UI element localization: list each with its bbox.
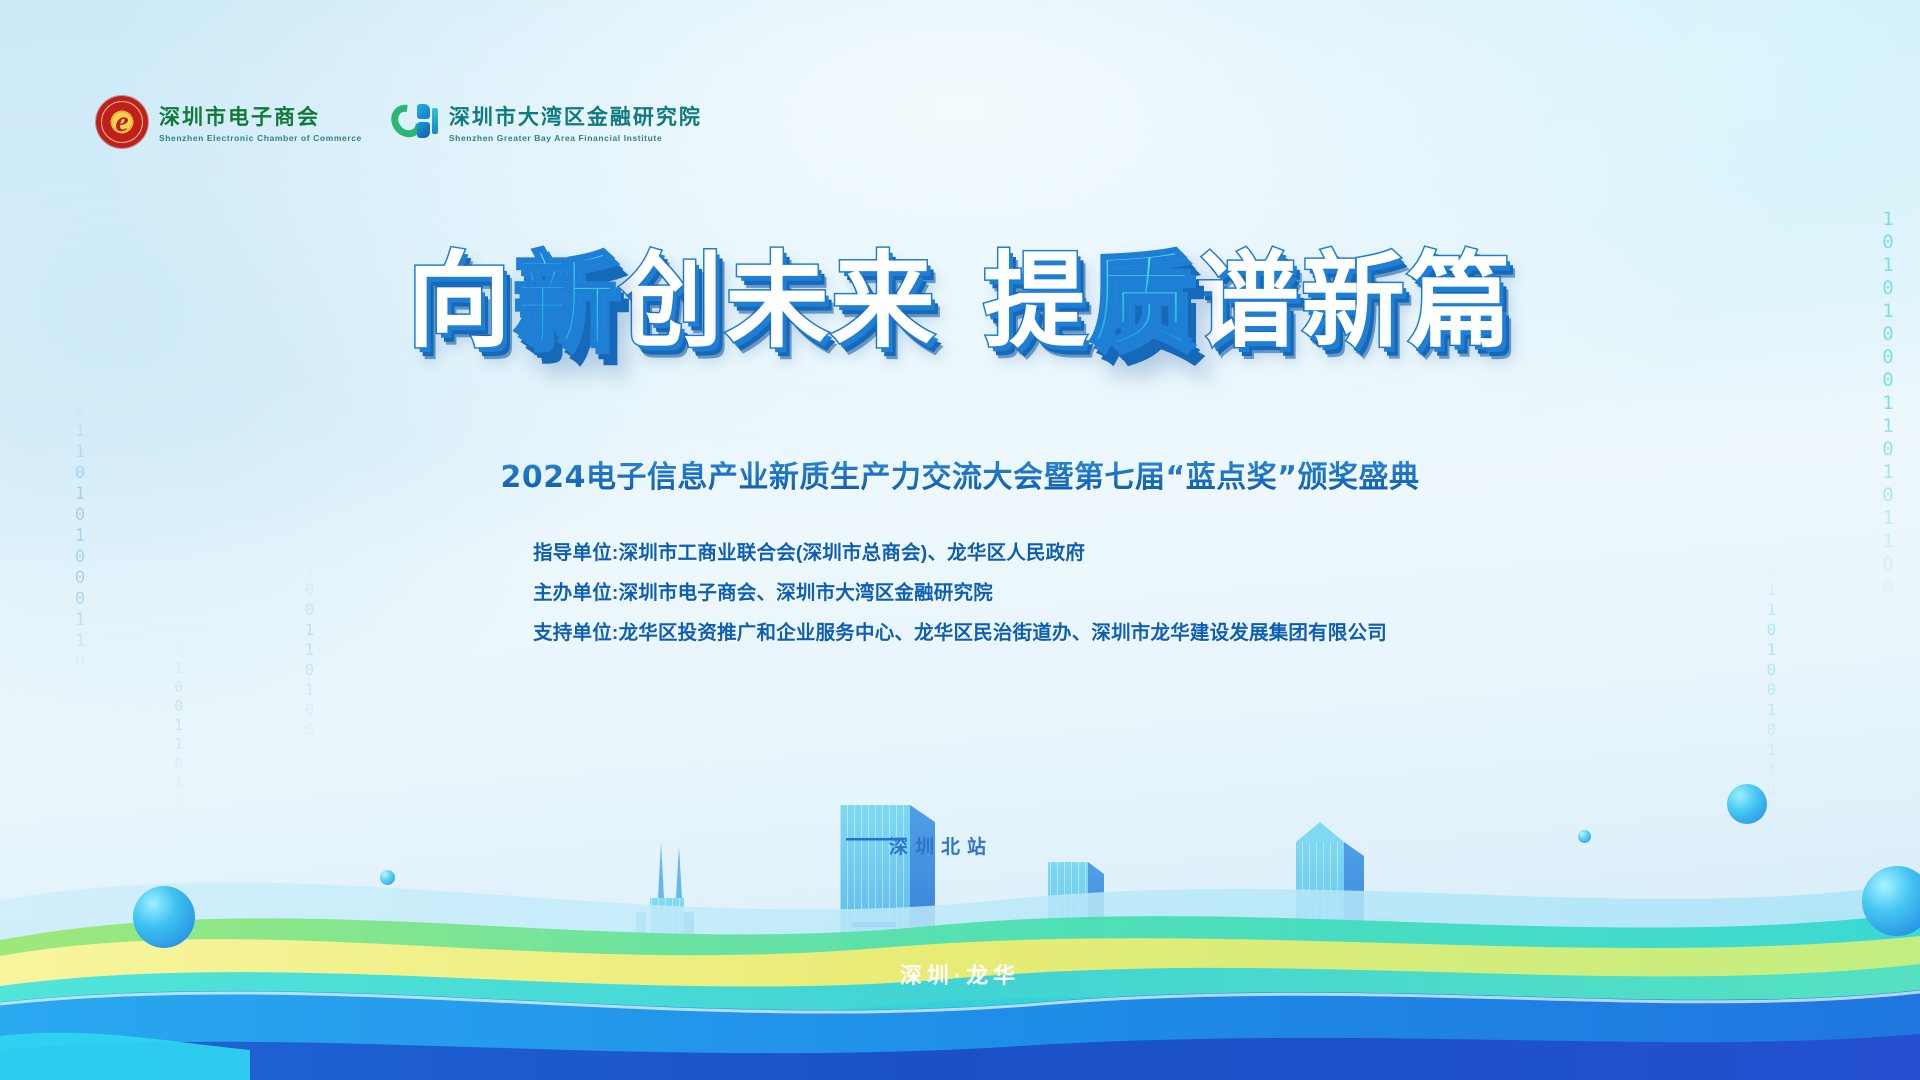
main-title-segment-0: 向: [407, 248, 513, 354]
decor-sphere-large-left: [133, 886, 195, 948]
footer-location-label: 深圳·龙华: [0, 958, 1920, 990]
organizer-line-2: 主办单位:深圳市电子商会、深圳市大湾区金融研究院: [533, 576, 993, 605]
main-title-segment-5: 质: [1089, 248, 1195, 354]
organizer-line-1: 指导单位:深圳市工商业联合会(深圳市总商会)、龙华区人民政府: [533, 536, 1085, 565]
landmark-label: 深圳北站: [889, 832, 993, 859]
organizer-list: 指导单位:深圳市工商业联合会(深圳市总商会)、龙华区人民政府主办单位:深圳市电子…: [0, 536, 1920, 645]
logo-en-name-1: Shenzhen Electronic Chamber of Commerce: [159, 133, 362, 143]
logo-en-name-2: Shenzhen Greater Bay Area Financial Inst…: [449, 133, 702, 143]
logo-bar: 深圳市电子商会 Shenzhen Electronic Chamber of C…: [96, 96, 702, 148]
logo-shenzhen-electronic-chamber: 深圳市电子商会 Shenzhen Electronic Chamber of C…: [96, 96, 362, 148]
decor-sphere-small-right: [1727, 784, 1767, 824]
poster-canvas: 1010100011010110011 0110100101101 011010…: [0, 0, 1920, 1080]
main-title-segment-1: 新: [513, 248, 619, 354]
event-subtitle: 2024电子信息产业新质生产力交流大会暨第七届“蓝点奖”颁奖盛典: [0, 452, 1920, 496]
logo-cn-name-1: 深圳市电子商会: [159, 101, 362, 131]
organizer-line-3: 支持单位:龙华区投资推广和企业服务中心、龙华区民治街道办、深圳市龙华建设发展集团…: [533, 616, 1387, 645]
gbi-logo-icon: [392, 102, 438, 142]
decor-sphere-dot-left: [380, 870, 395, 885]
logo-gba-financial-institute: 深圳市大湾区金融研究院 Shenzhen Greater Bay Area Fi…: [392, 101, 702, 143]
main-title-segment-4: 提: [983, 248, 1089, 354]
red-seal-e-icon: [96, 96, 148, 148]
main-title-segment-6: 谱新篇: [1195, 248, 1513, 354]
decor-sphere-dot-right: [1578, 830, 1591, 843]
logo-cn-name-2: 深圳市大湾区金融研究院: [449, 101, 702, 131]
wave-decoration: [0, 750, 1920, 1080]
main-title: 向新创未来提质谱新篇: [0, 248, 1920, 354]
main-title-segment-2: 创未来: [619, 248, 937, 354]
